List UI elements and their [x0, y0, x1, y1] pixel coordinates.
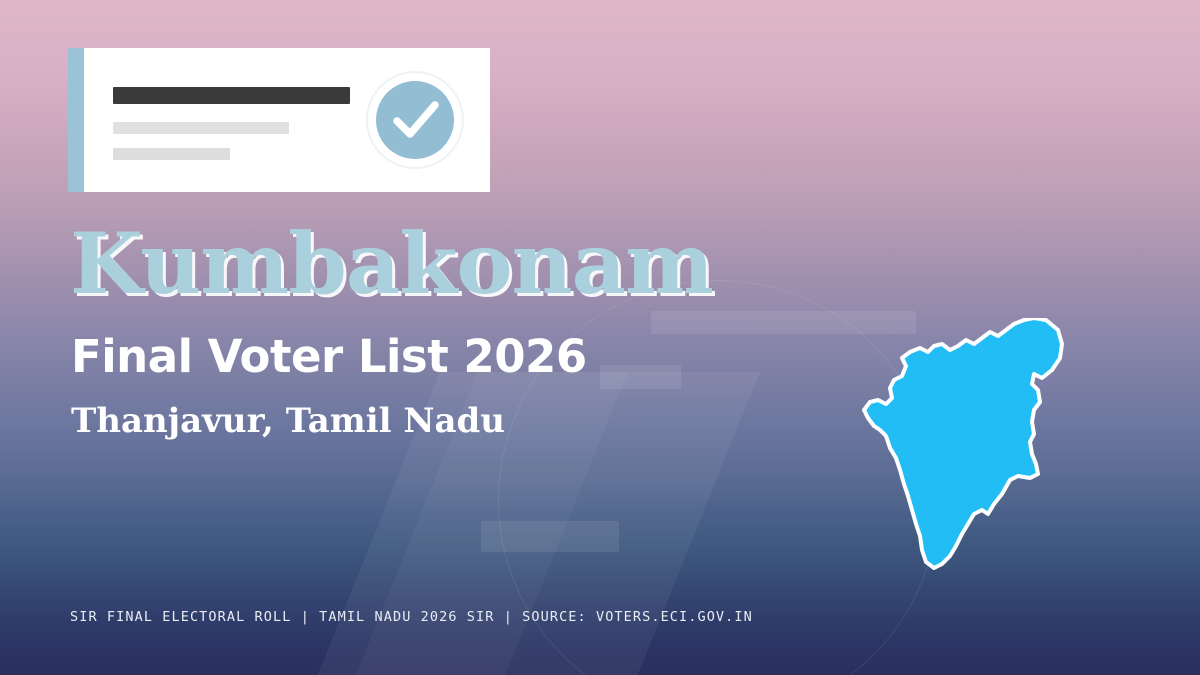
page-title: Kumbakonam: [70, 222, 713, 306]
footer-source-line: SIR FINAL ELECTORAL ROLL | TAMIL NADU 20…: [70, 609, 753, 625]
document-line-2: [113, 148, 230, 160]
check-circle-icon: [366, 71, 464, 169]
decorative-rect-3: [481, 521, 619, 552]
page-subtitle: Final Voter List 2026: [71, 334, 587, 379]
tamil-nadu-map: [862, 318, 1072, 578]
decorative-rect-2: [600, 365, 681, 389]
document-title-bar: [113, 87, 350, 104]
document-line-1: [113, 122, 289, 134]
document-card-accent-bar: [68, 48, 84, 192]
document-card-body: [84, 48, 490, 192]
document-card: [68, 48, 490, 192]
poster-canvas: Kumbakonam Final Voter List 2026 Thanjav…: [0, 0, 1200, 675]
region-label: Thanjavur, Tamil Nadu: [71, 404, 505, 438]
